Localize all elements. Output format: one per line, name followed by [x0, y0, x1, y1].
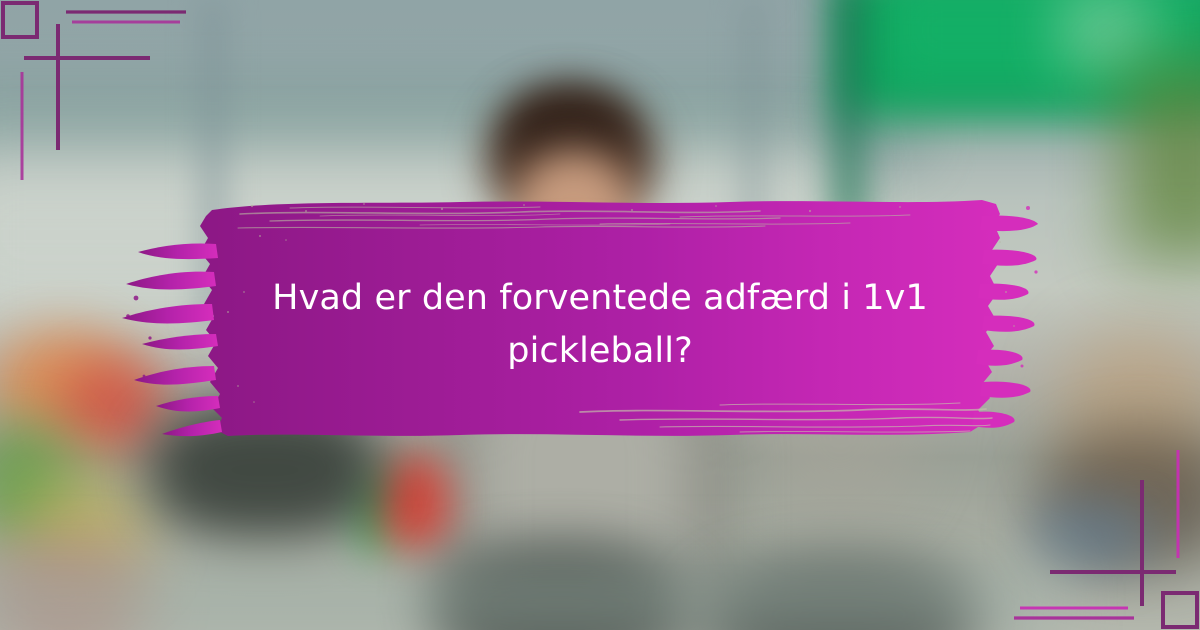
background-bottle-red: [380, 455, 450, 555]
page-title: Hvad er den forventede adfærd i 1v1 pick…: [210, 272, 990, 378]
background-foliage-right: [1120, 60, 1200, 260]
social-card-canvas: Hvad er den forventede adfærd i 1v1 pick…: [0, 0, 1200, 630]
background-counter-surface: [0, 560, 1060, 630]
